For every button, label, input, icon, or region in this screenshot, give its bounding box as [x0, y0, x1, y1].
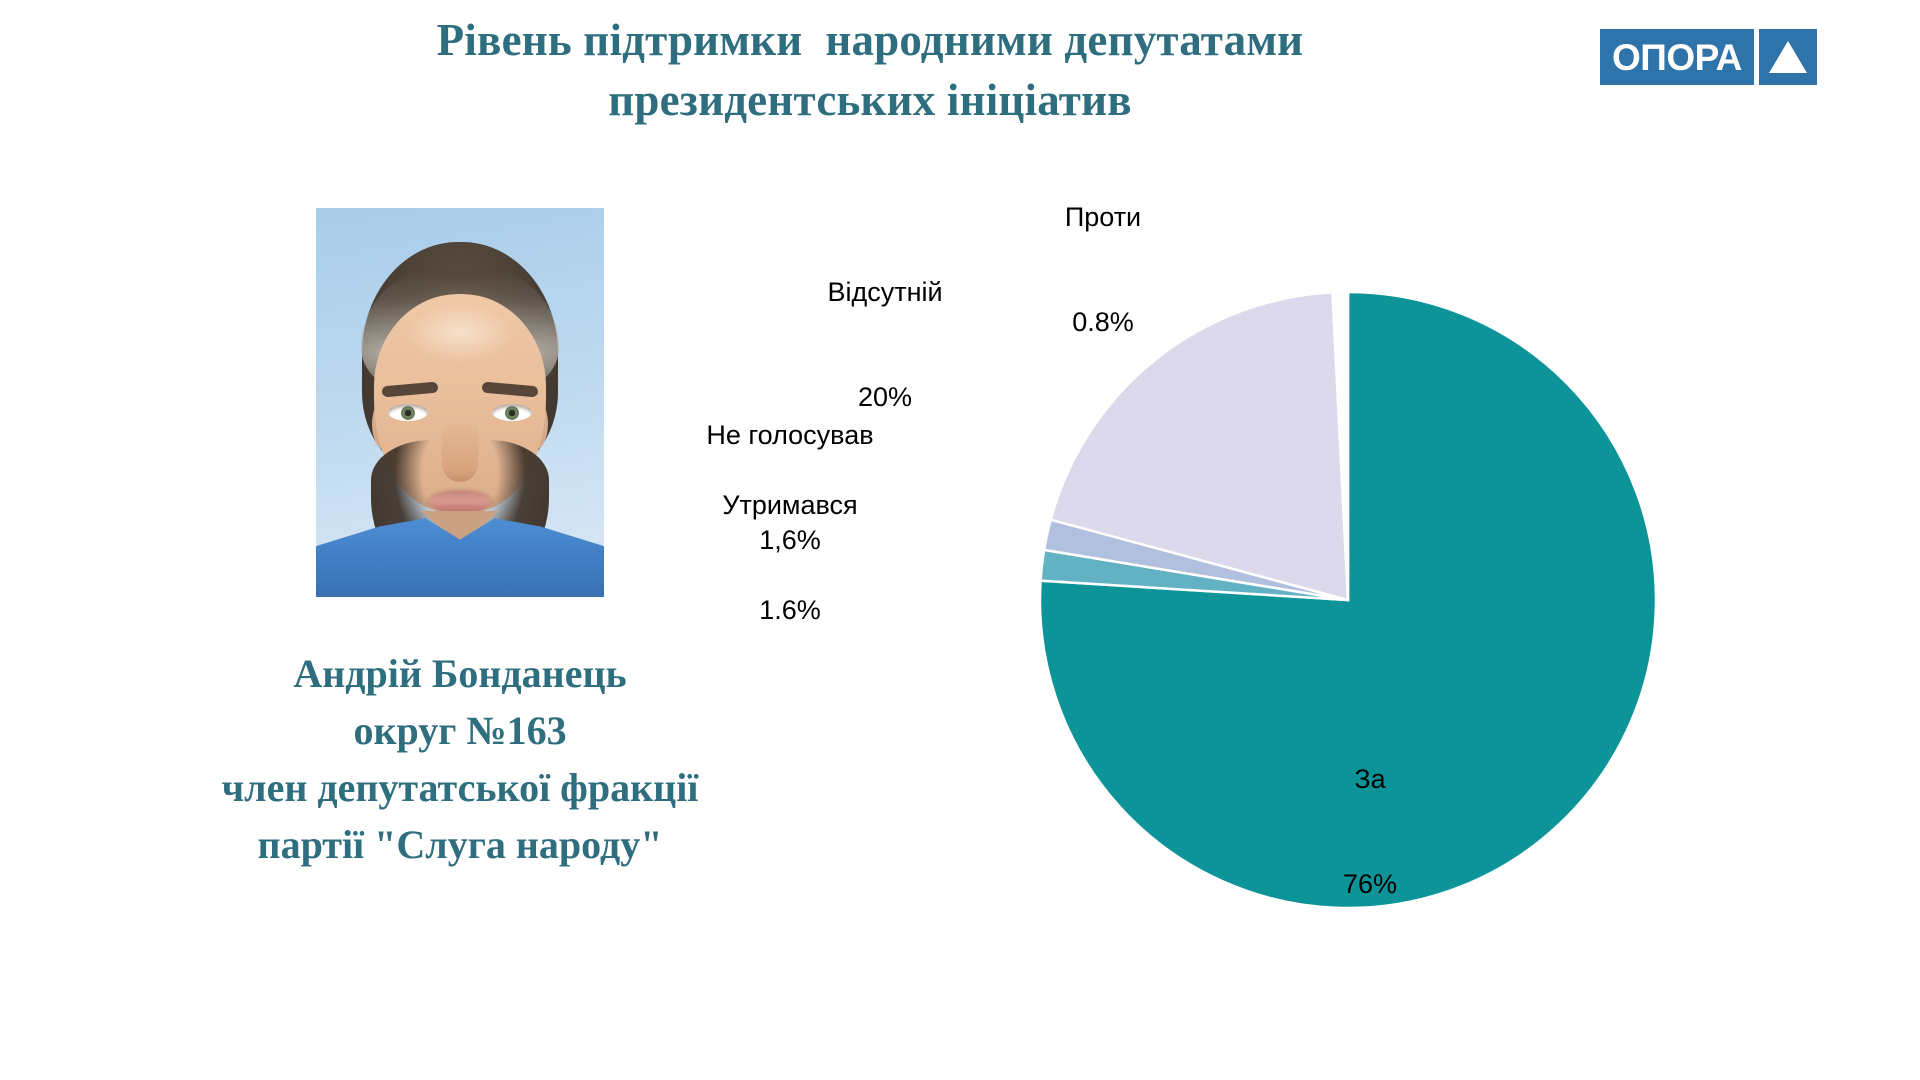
pie-label-utrymavsia-value: 1.6% — [640, 593, 940, 628]
page-title-line-2: президентських ініціатив — [280, 70, 1460, 130]
deputy-photo — [316, 208, 604, 597]
pie-label-proty-value: 0.8% — [988, 305, 1218, 340]
pie-label-za-name: За — [1270, 762, 1470, 797]
pie-label-utrymavsia-name: Утримався — [640, 488, 940, 523]
pie-label-proty: Проти 0.8% — [988, 130, 1218, 410]
page-title-line-1: Рівень підтримки народними депутатами — [280, 10, 1460, 70]
pie-label-proty-name: Проти — [988, 200, 1218, 235]
deputy-district: округ №163 — [80, 702, 840, 759]
deputy-affiliation-line2: партії "Слуга народу" — [80, 816, 840, 873]
triangle-glyph — [1769, 41, 1807, 73]
opora-wordmark: ОПОРА — [1600, 29, 1754, 85]
pie-label-za: За 76% — [1270, 692, 1470, 972]
pie-label-utrymavsia: Утримався 1.6% — [640, 418, 940, 698]
opora-wordmark-text: ОПОРА — [1612, 39, 1742, 76]
vote-distribution-pie-chart: Проти 0.8% Відсутній 20% Не голосував 1,… — [760, 130, 1900, 1010]
deputy-affiliation-line1: член депутатської фракції — [80, 759, 840, 816]
opora-logo[interactable]: ОПОРА — [1600, 29, 1817, 85]
photo-iris-left — [401, 406, 415, 420]
pie-label-vidsutnii-name: Відсутній — [760, 275, 1010, 310]
photo-iris-right — [505, 406, 519, 420]
triangle-icon — [1759, 29, 1817, 85]
photo-forehead-highlight — [406, 304, 514, 362]
pie-label-za-value: 76% — [1270, 867, 1470, 902]
page-title: Рівень підтримки народними депутатами пр… — [280, 10, 1460, 130]
photo-mouth — [429, 491, 491, 513]
